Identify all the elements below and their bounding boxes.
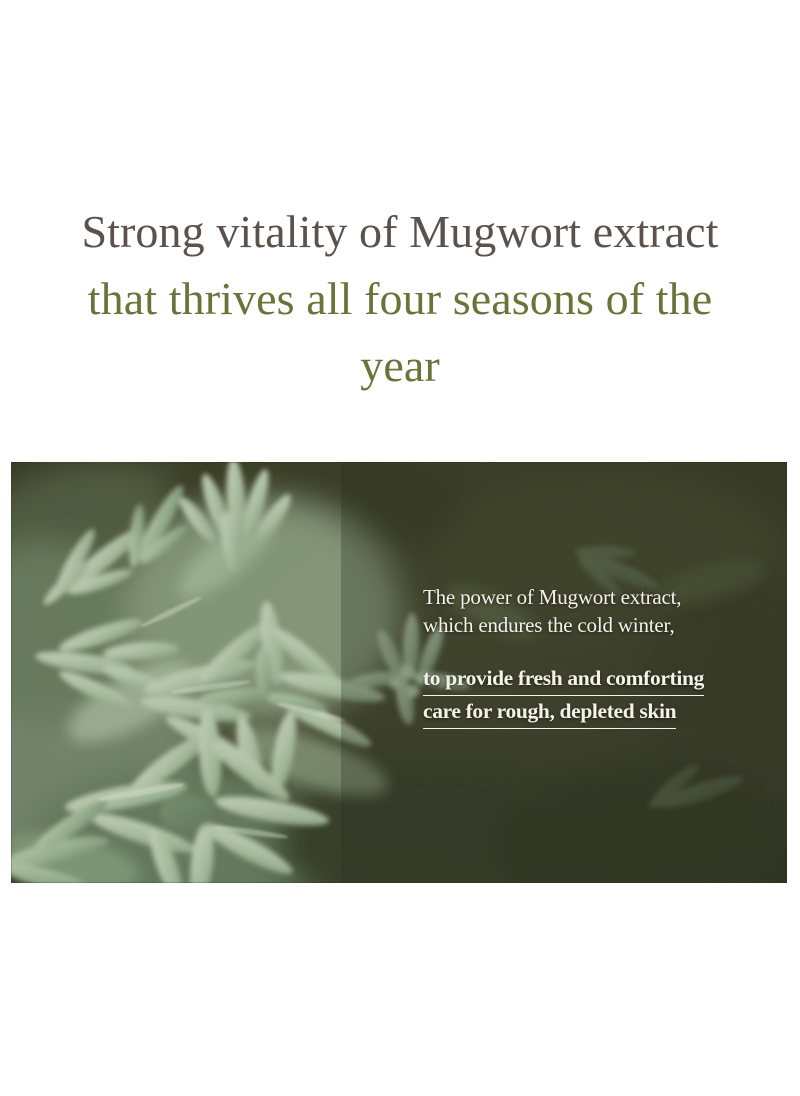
- page-title: Strong vitality of Mugwort extract that …: [50, 198, 750, 399]
- overlay-emphasis-line-1-wrap: to provide fresh and comforting: [423, 663, 763, 696]
- overlay-lede-line-2: which endures the cold winter,: [423, 611, 763, 639]
- headline-line-1-dark: Strong vitality of Mugwort: [81, 206, 581, 257]
- headline-line-2-dark: extract: [593, 206, 719, 257]
- overlay-emphasis-line-2-wrap: care for rough, depleted skin: [423, 696, 763, 729]
- overlay-emphasis: to provide fresh and comforting care for…: [423, 663, 763, 729]
- overlay-lede: The power of Mugwort extract, which endu…: [423, 583, 763, 639]
- overlay-emphasis-line-2: care for rough, depleted skin: [423, 696, 676, 729]
- headline-line-2-green: that thrives all four: [88, 273, 441, 324]
- photo-overlay-copy: The power of Mugwort extract, which endu…: [423, 583, 763, 729]
- overlay-spacer: [423, 639, 763, 663]
- overlay-emphasis-line-1: to provide fresh and comforting: [423, 663, 704, 696]
- overlay-lede-line-1: The power of Mugwort extract,: [423, 583, 763, 611]
